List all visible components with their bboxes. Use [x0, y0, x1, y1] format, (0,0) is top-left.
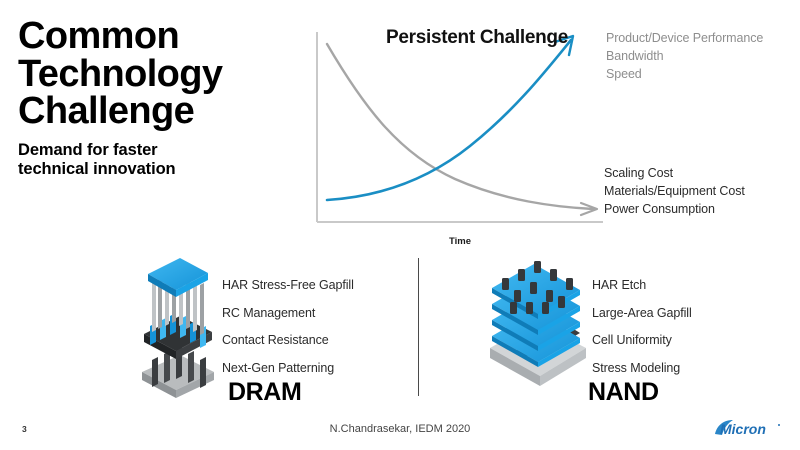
nand-bullet-4: Stress Modeling [592, 362, 692, 375]
title-line-2: Technology [18, 56, 288, 94]
chart-annotations-bottom: Scaling Cost Materials/Equipment Cost Po… [604, 165, 745, 218]
annotation-bandwidth: Bandwidth [606, 48, 763, 66]
chart-title: Persistent Challenge [357, 27, 597, 49]
x-axis-label: Time [405, 236, 515, 247]
micron-logo: Micron [712, 418, 784, 440]
title-line-3: Challenge [18, 93, 288, 131]
dram-bullet-2: RC Management [222, 307, 354, 320]
dram-label: DRAM [228, 378, 301, 407]
section-divider [418, 258, 419, 396]
dram-bullet-list: HAR Stress-Free Gapfill RC Management Co… [222, 279, 354, 389]
title-line-1: Common [18, 18, 288, 56]
dram-bullet-4: Next-Gen Patterning [222, 362, 354, 375]
cost-curve-gray [327, 44, 593, 209]
nand-bullet-list: HAR Etch Large-Area Gapfill Cell Uniform… [592, 279, 692, 389]
annotation-performance: Product/Device Performance [606, 30, 763, 48]
dram-3d-structure-icon [132, 252, 222, 400]
dram-bullet-3: Contact Resistance [222, 334, 354, 347]
annotation-materials-cost: Materials/Equipment Cost [604, 183, 745, 201]
credit-line: N.Chandrasekar, IEDM 2020 [0, 423, 800, 435]
dram-bullet-1: HAR Stress-Free Gapfill [222, 279, 354, 292]
persistent-challenge-chart: Persistent Challenge Time [305, 14, 615, 239]
nand-bullet-2: Large-Area Gapfill [592, 307, 692, 320]
chart-annotations-top: Product/Device Performance Bandwidth Spe… [606, 30, 763, 83]
page-title: Common Technology Challenge Demand for f… [18, 18, 288, 180]
nand-3d-structure-icon [484, 252, 594, 392]
slide: Common Technology Challenge Demand for f… [0, 0, 800, 450]
annotation-scaling-cost: Scaling Cost [604, 165, 745, 183]
nand-label: NAND [588, 378, 659, 407]
micron-logo-text: Micron [720, 421, 766, 437]
nand-bullet-1: HAR Etch [592, 279, 692, 292]
annotation-speed: Speed [606, 66, 763, 84]
annotation-power-consumption: Power Consumption [604, 201, 745, 219]
nand-bullet-3: Cell Uniformity [592, 334, 692, 347]
subtitle-line-2: technical innovation [18, 160, 288, 179]
subtitle: Demand for faster technical innovation [18, 141, 288, 180]
subtitle-line-1: Demand for faster [18, 141, 288, 160]
